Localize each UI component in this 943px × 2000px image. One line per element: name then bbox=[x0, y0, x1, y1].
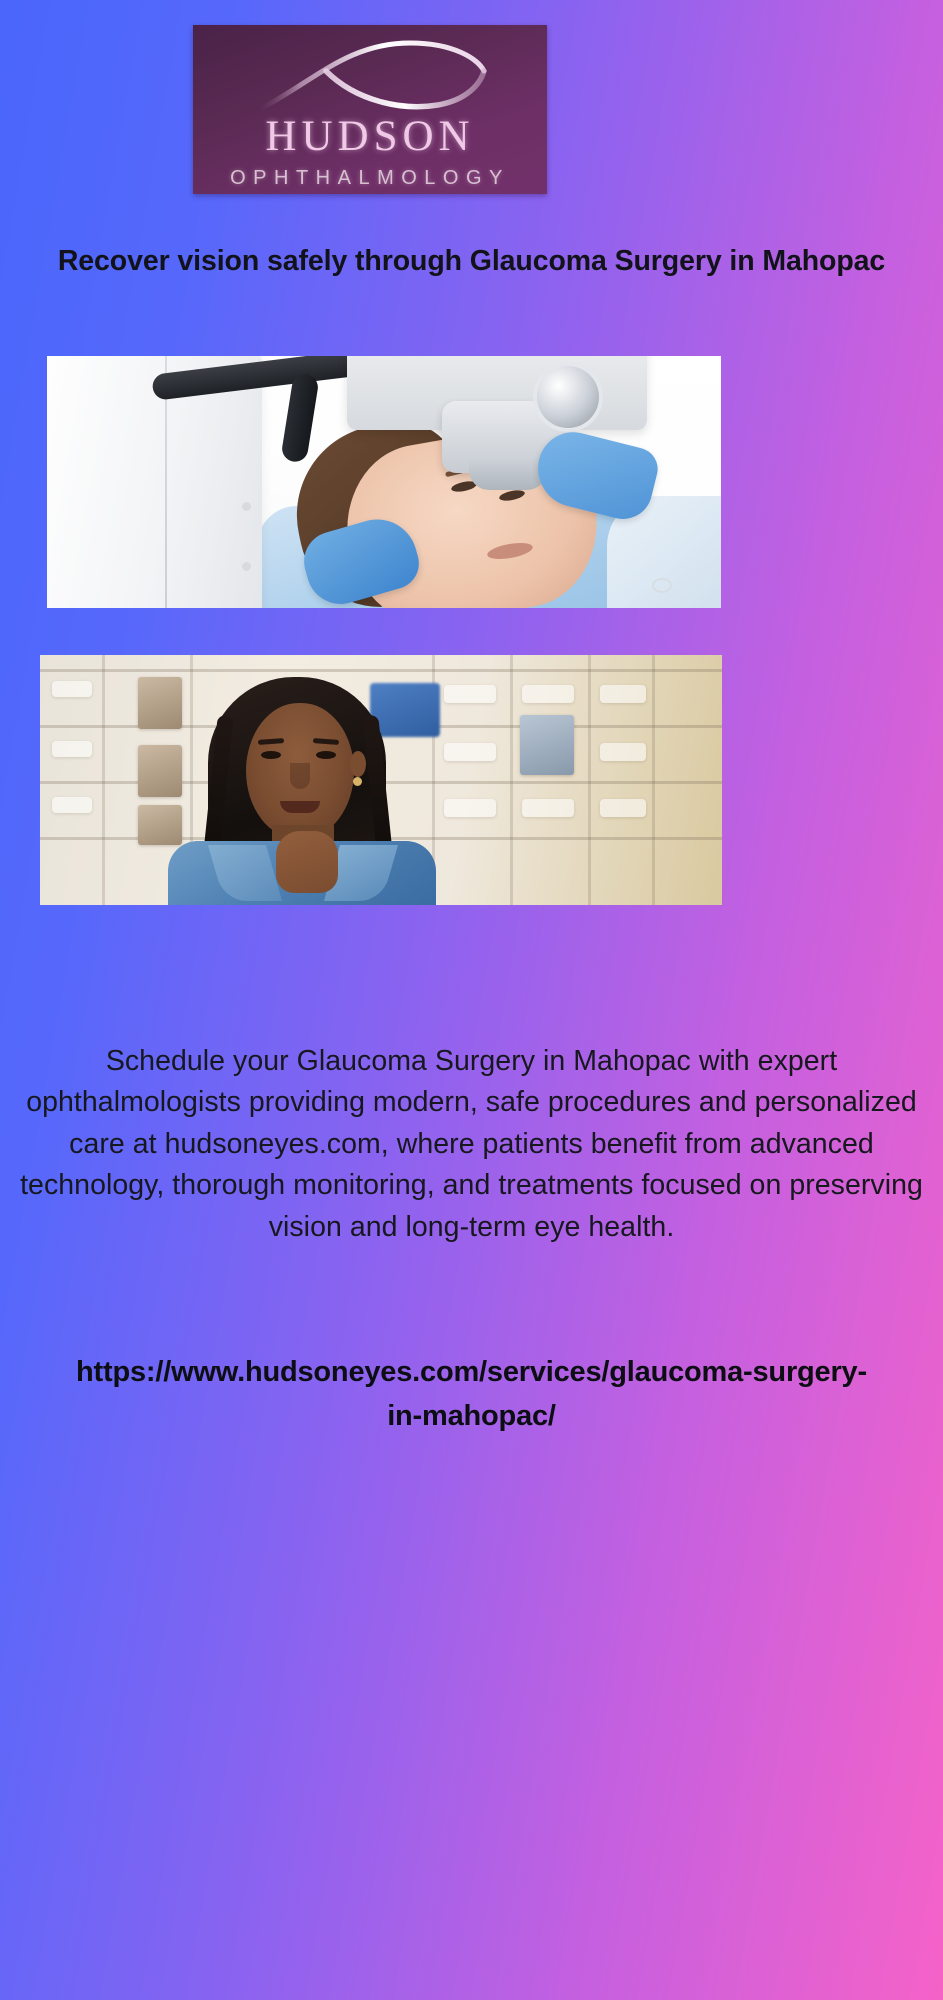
eye-surgery-photo bbox=[47, 356, 721, 608]
optical-shop-patient-photo bbox=[40, 655, 722, 905]
page-title: Recover vision safely through Glaucoma S… bbox=[55, 240, 888, 283]
logo-brand-text: HUDSON bbox=[193, 115, 547, 158]
website-url[interactable]: https://www.hudsoneyes.com/services/glau… bbox=[60, 1350, 883, 1438]
description-text: Schedule your Glaucoma Surgery in Mahopa… bbox=[0, 1041, 943, 1249]
eye-swoosh-icon bbox=[252, 37, 488, 115]
brand-logo: HUDSON OPHTHALMOLOGY bbox=[193, 25, 547, 194]
logo-subtitle-text: OPHTHALMOLOGY bbox=[193, 168, 547, 188]
poster-canvas: HUDSON OPHTHALMOLOGY Recover vision safe… bbox=[0, 0, 943, 2000]
